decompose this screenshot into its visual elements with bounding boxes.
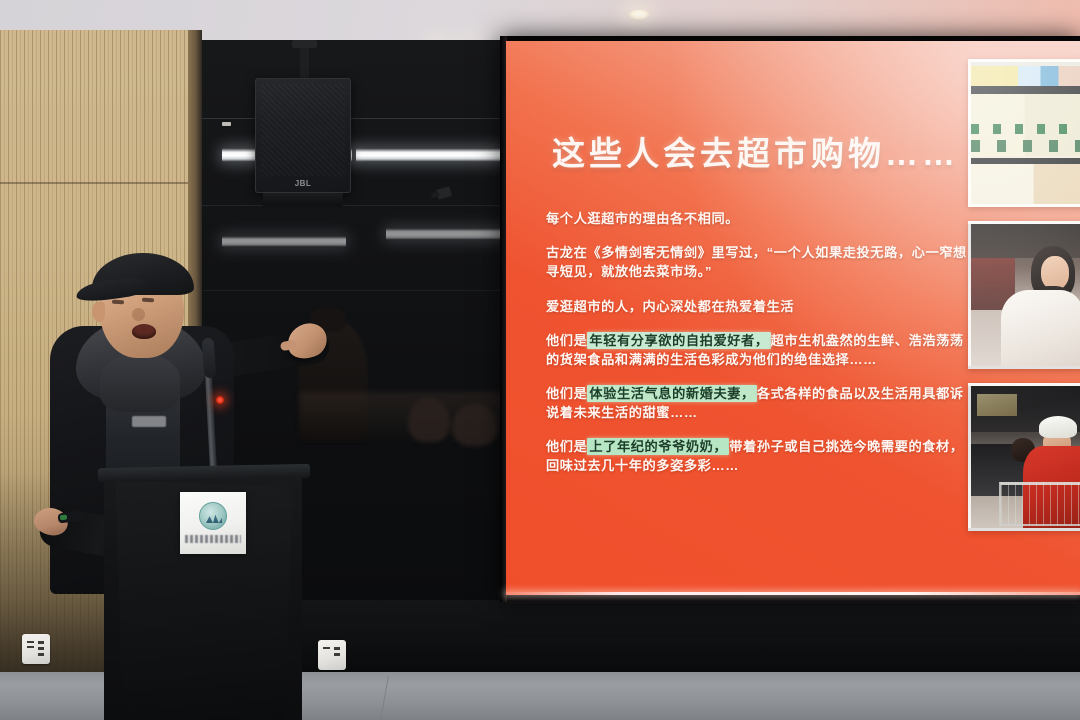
slide-bullet-selfie: 他们是年轻有分享欲的自拍爱好者，超市生机盎然的生鲜、浩浩荡荡的货架食品和满满的生… xyxy=(546,331,976,369)
bullet-highlight: 上了年纪的爷爷奶奶， xyxy=(587,438,729,455)
wall-outlet-left[interactable] xyxy=(22,634,50,664)
wall-outlet-right[interactable] xyxy=(318,640,346,670)
bullet-highlight: 体验生活气息的新婚夫妻， xyxy=(587,385,756,402)
slide-paragraph-quote: 古龙在《多情剑客无情剑》里写过，“一个人如果走投无路，心一窄想寻短见，就放他去菜… xyxy=(546,243,976,281)
presenter-eye xyxy=(112,300,124,305)
ceiling-speaker: JBL xyxy=(255,78,351,193)
organization-logo-icon xyxy=(199,502,227,530)
ceiling-downlight-icon xyxy=(628,9,650,20)
slide-title: 这些人会去超市购物…… xyxy=(552,127,959,175)
wall-indicator-light-icon xyxy=(222,122,231,126)
projection-screen-bottom-edge xyxy=(506,592,1080,595)
presenter-ear xyxy=(92,302,105,322)
projection-screen: 这些人会去超市购物…… 每个人逛超市的理由各不相同。 古龙在《多情剑客无情剑》里… xyxy=(506,41,1080,595)
slide-body: 每个人逛超市的理由各不相同。 古龙在《多情剑客无情剑》里写过，“一个人如果走投无… xyxy=(546,209,976,490)
presenter-hoodie-print xyxy=(132,416,166,427)
presenter-eye xyxy=(142,298,154,303)
audience-silhouette xyxy=(452,404,498,446)
audience-silhouette xyxy=(408,398,450,442)
presenter-nose xyxy=(132,308,145,321)
slide-bullet-newlyweds: 他们是体验生活气息的新婚夫妻，各式各样的食品以及生活用具都诉说着未来生活的甜蜜…… xyxy=(546,384,976,422)
microphone-led-icon xyxy=(216,396,224,404)
bullet-lead: 他们是 xyxy=(546,333,587,348)
organization-name-text xyxy=(185,535,241,543)
slide-bullet-grandparents: 他们是上了年纪的爷爷奶奶，带着孙子或自己挑选今晚需要的食材，回味过去几十年的多姿… xyxy=(546,437,976,475)
photo-shelves xyxy=(968,59,1080,207)
speaker-base-shadow xyxy=(263,193,343,206)
slide-paragraph-reason: 每个人逛超市的理由各不相同。 xyxy=(546,209,976,228)
presenter-hood-inner xyxy=(100,354,180,412)
slide-photo-column xyxy=(968,59,1080,545)
bullet-lead: 他们是 xyxy=(546,386,587,401)
presenter-mouth xyxy=(132,324,156,339)
podium-logo-plaque xyxy=(180,492,246,554)
photo-woman xyxy=(968,221,1080,369)
wall-light-strip xyxy=(386,228,504,240)
presentation-room-photo: JBL xyxy=(0,0,1080,720)
speaker-mount-bracket xyxy=(300,46,309,82)
slide-paragraph-love: 爱逛超市的人，内心深处都在热爱着生活 xyxy=(546,297,976,316)
wall-light-strip xyxy=(356,148,502,162)
photo-elderly xyxy=(968,383,1080,531)
bullet-highlight: 年轻有分享欲的自拍爱好者， xyxy=(587,332,770,349)
speaker-brand-label: JBL xyxy=(295,179,312,188)
wall-light-strip xyxy=(222,236,346,247)
bullet-lead: 他们是 xyxy=(546,439,587,454)
